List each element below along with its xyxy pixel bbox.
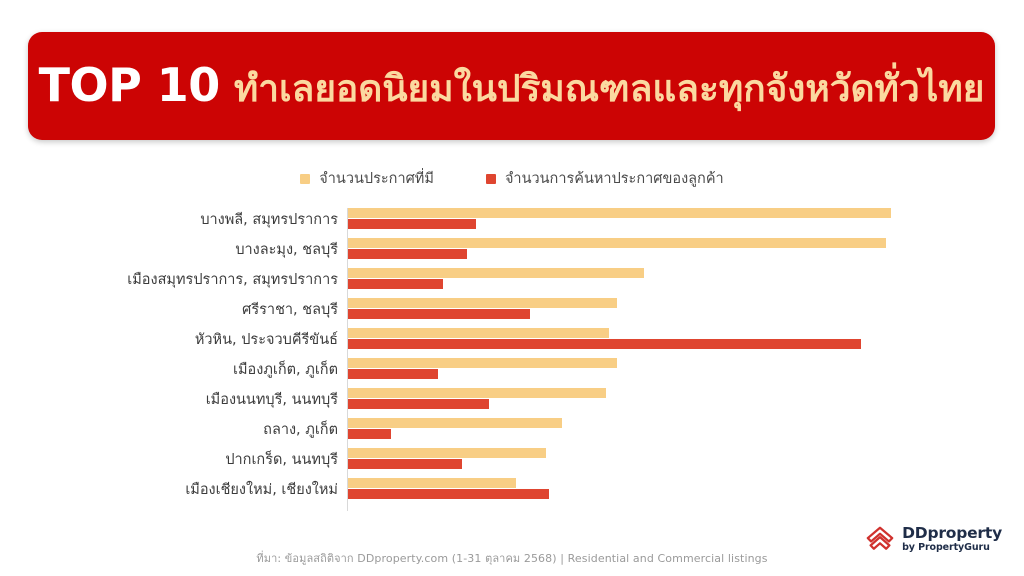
chart-row: หัวหิน, ประจวบคีรีขันธ์ bbox=[0, 324, 1024, 354]
legend-swatch-searches bbox=[486, 174, 496, 184]
chart-row: บางพลี, สมุทรปราการ bbox=[0, 204, 1024, 234]
chart-category-label: หัวหิน, ประจวบคีรีขันธ์ bbox=[108, 324, 338, 354]
chart-category-label: เมืองเชียงใหม่, เชียงใหม่ bbox=[108, 474, 338, 504]
legend-label-listings: จำนวนประกาศที่มี bbox=[319, 172, 434, 187]
house-chevron-icon bbox=[865, 524, 895, 554]
legend-item-searches[interactable]: จำนวนการค้นหาประกาศของลูกค้า bbox=[486, 172, 724, 187]
chart-bar-group bbox=[348, 384, 1008, 414]
logo-brand-name: DDproperty bbox=[902, 526, 1002, 542]
logo-tagline: by PropertyGuru bbox=[902, 543, 1002, 553]
chart-bar-group bbox=[348, 474, 1008, 504]
bar-listings[interactable] bbox=[348, 208, 891, 218]
chart-bar-group bbox=[348, 414, 1008, 444]
title-banner-inner: TOP 10 ทำเลยอดนิยมในปริมณฑลและทุกจังหวัด… bbox=[39, 58, 985, 118]
bar-listings[interactable] bbox=[348, 418, 562, 428]
bar-searches[interactable] bbox=[348, 429, 391, 439]
bar-listings[interactable] bbox=[348, 388, 606, 398]
chart-bar-group bbox=[348, 234, 1008, 264]
chart-row: ถลาง, ภูเก็ต bbox=[0, 414, 1024, 444]
legend-label-searches: จำนวนการค้นหาประกาศของลูกค้า bbox=[505, 172, 724, 187]
chart-row: เมืองภูเก็ต, ภูเก็ต bbox=[0, 354, 1024, 384]
chart-legend: จำนวนประกาศที่มี จำนวนการค้นหาประกาศของล… bbox=[0, 172, 1024, 187]
ddproperty-logo: DDproperty by PropertyGuru bbox=[865, 524, 1002, 554]
chart-row: ปากเกร็ด, นนทบุรี bbox=[0, 444, 1024, 474]
chart-category-label: ถลาง, ภูเก็ต bbox=[108, 414, 338, 444]
chart-row: บางละมุง, ชลบุรี bbox=[0, 234, 1024, 264]
legend-item-listings[interactable]: จำนวนประกาศที่มี bbox=[300, 172, 434, 187]
chart-row: เมืองเชียงใหม่, เชียงใหม่ bbox=[0, 474, 1024, 504]
bar-searches[interactable] bbox=[348, 489, 549, 499]
bar-listings[interactable] bbox=[348, 448, 546, 458]
chart-category-label: เมืองสมุทรปราการ, สมุทรปราการ bbox=[108, 264, 338, 294]
chart-bar-group bbox=[348, 354, 1008, 384]
legend-swatch-listings bbox=[300, 174, 310, 184]
bar-searches[interactable] bbox=[348, 249, 467, 259]
banner-top10-label: TOP 10 bbox=[39, 58, 220, 112]
bar-searches[interactable] bbox=[348, 459, 462, 469]
chart-category-label: ศรีราชา, ชลบุรี bbox=[108, 294, 338, 324]
bar-searches[interactable] bbox=[348, 399, 489, 409]
chart-category-label: เมืองภูเก็ต, ภูเก็ต bbox=[108, 354, 338, 384]
chart-rows: บางพลี, สมุทรปราการบางละมุง, ชลบุรีเมือง… bbox=[0, 204, 1024, 504]
logo-text-block: DDproperty by PropertyGuru bbox=[902, 526, 1002, 553]
chart-row: เมืองนนทบุรี, นนทบุรี bbox=[0, 384, 1024, 414]
chart-bar-group bbox=[348, 444, 1008, 474]
banner-subtitle: ทำเลยอดนิยมในปริมณฑลและทุกจังหวัดทั่วไทย bbox=[234, 59, 985, 118]
horizontal-bar-chart: บางพลี, สมุทรปราการบางละมุง, ชลบุรีเมือง… bbox=[0, 204, 1024, 514]
chart-row: เมืองสมุทรปราการ, สมุทรปราการ bbox=[0, 264, 1024, 294]
bar-listings[interactable] bbox=[348, 238, 886, 248]
title-banner: TOP 10 ทำเลยอดนิยมในปริมณฑลและทุกจังหวัด… bbox=[28, 32, 995, 140]
chart-bar-group bbox=[348, 204, 1008, 234]
chart-row: ศรีราชา, ชลบุรี bbox=[0, 294, 1024, 324]
bar-listings[interactable] bbox=[348, 268, 644, 278]
bar-searches[interactable] bbox=[348, 339, 861, 349]
chart-bar-group bbox=[348, 324, 1008, 354]
bar-searches[interactable] bbox=[348, 369, 438, 379]
chart-bar-group bbox=[348, 264, 1008, 294]
chart-bar-group bbox=[348, 294, 1008, 324]
chart-category-label: บางละมุง, ชลบุรี bbox=[108, 234, 338, 264]
chart-category-label: เมืองนนทบุรี, นนทบุรี bbox=[108, 384, 338, 414]
bar-listings[interactable] bbox=[348, 358, 617, 368]
chart-category-label: บางพลี, สมุทรปราการ bbox=[108, 204, 338, 234]
bar-listings[interactable] bbox=[348, 478, 516, 488]
bar-listings[interactable] bbox=[348, 328, 609, 338]
bar-searches[interactable] bbox=[348, 219, 476, 229]
bar-listings[interactable] bbox=[348, 298, 617, 308]
bar-searches[interactable] bbox=[348, 309, 530, 319]
chart-category-label: ปากเกร็ด, นนทบุรี bbox=[108, 444, 338, 474]
bar-searches[interactable] bbox=[348, 279, 443, 289]
